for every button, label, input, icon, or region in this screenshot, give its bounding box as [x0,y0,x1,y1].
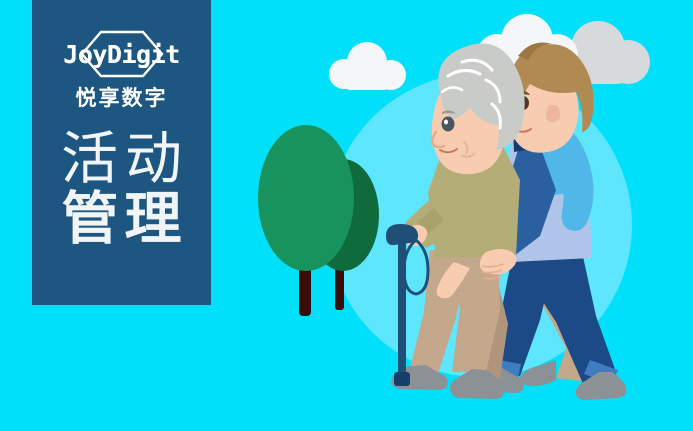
logo-mark: JoyDigit [42,28,202,80]
poster-canvas: JoyDigit 悦享数字 活动 管理 [0,0,693,431]
logo-wordmark: JoyDigit [42,28,202,80]
page-title-line-1: 活动 [54,130,189,190]
page-title-line-2: 管理 [54,190,189,250]
brand-logo: JoyDigit 悦享数字 [42,28,202,120]
cane-tip [394,372,410,386]
brand-panel: JoyDigit 悦享数字 活动 管理 [32,0,211,305]
logo-subtitle: 悦享数字 [76,82,168,112]
page-title: 活动 管理 [54,130,189,250]
